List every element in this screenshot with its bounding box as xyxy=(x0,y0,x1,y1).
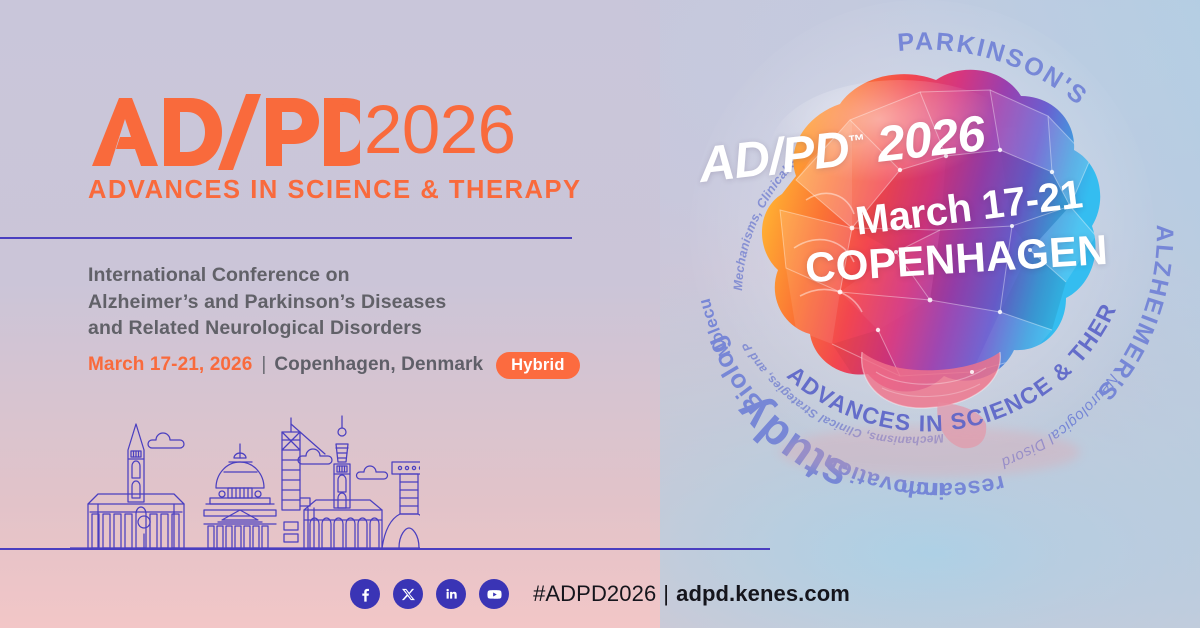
youtube-icon[interactable] xyxy=(479,579,509,609)
date-location-separator: | xyxy=(261,354,266,376)
divider-top xyxy=(0,237,572,239)
cloud-shape xyxy=(148,433,184,448)
facebook-icon[interactable] xyxy=(350,579,380,609)
conference-dates: March 17-21, 2026 xyxy=(88,354,252,376)
logo-year: 2026 xyxy=(364,94,516,166)
conference-title-line-1: International Conference on xyxy=(88,262,608,289)
youtube-glyph xyxy=(486,586,503,603)
linkedin-glyph xyxy=(443,586,459,602)
social-links xyxy=(350,579,509,609)
date-location-row: March 17-21, 2026 | Copenhagen, Denmark … xyxy=(88,352,608,380)
left-content-panel: ™ 2026 ADVANCES IN SCIENCE & THERAPY Int… xyxy=(0,0,640,628)
trademark-symbol: ™ xyxy=(336,101,353,120)
adpd-wordmark-icon: ™ xyxy=(88,94,360,170)
cloud-shape xyxy=(357,466,388,479)
linkedin-icon[interactable] xyxy=(436,579,466,609)
x-twitter-icon[interactable] xyxy=(393,579,423,609)
divider-bottom xyxy=(0,548,770,550)
conference-info: International Conference on Alzheimer’s … xyxy=(88,262,608,379)
copenhagen-skyline-illustration xyxy=(70,410,420,555)
conference-title-line-3: and Related Neurological Disorders xyxy=(88,315,608,342)
adpd-logo-block: ™ 2026 ADVANCES IN SCIENCE & THERAPY xyxy=(88,94,582,205)
conference-location: Copenhagen, Denmark xyxy=(274,354,483,376)
conference-title-line-2: Alzheimer’s and Parkinson’s Diseases xyxy=(88,289,608,316)
brand-tagline: ADVANCES IN SCIENCE & THERAPY xyxy=(88,176,582,205)
footer-text: #ADPD2026 | adpd.kenes.com xyxy=(533,581,850,607)
footer-bar: #ADPD2026 | adpd.kenes.com xyxy=(0,570,1200,618)
footer-separator: | xyxy=(663,581,669,607)
brain-artwork: PARKINSON'S ALZHEIMER'S Neurological Dis… xyxy=(600,0,1200,600)
footer-hashtag: #ADPD2026 xyxy=(533,581,656,607)
footer-url[interactable]: adpd.kenes.com xyxy=(676,581,850,607)
banner-stage: PARKINSON'S ALZHEIMER'S Neurological Dis… xyxy=(0,0,1200,628)
format-badge: Hybrid xyxy=(496,352,579,380)
facebook-glyph xyxy=(357,586,374,603)
x-glyph xyxy=(401,587,416,602)
